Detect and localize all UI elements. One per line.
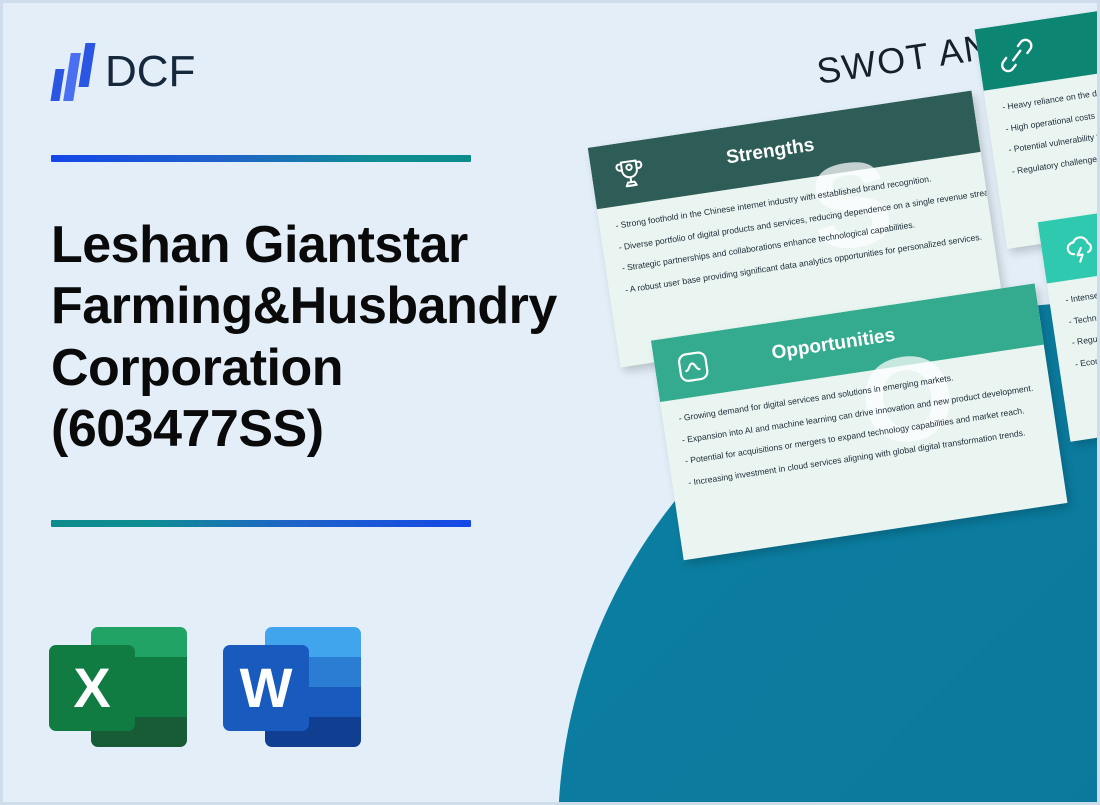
swot-card-title: Weaknesses	[977, 3, 1100, 71]
swot-card-weaknesses[interactable]: Weaknesses W - Heavy reliance on the dom…	[974, 3, 1100, 249]
word-letter: W	[223, 645, 309, 731]
download-formats: X W	[49, 619, 361, 747]
divider-bottom	[51, 520, 471, 527]
page-title: Leshan Giantstar Farming&Husbandry Corpo…	[51, 215, 521, 460]
title-panel: DCF Leshan Giantstar Farming&Husbandry C…	[3, 3, 543, 805]
brand-logo[interactable]: DCF	[51, 41, 195, 103]
word-file-icon[interactable]: W	[223, 619, 361, 747]
brand-name: DCF	[105, 50, 195, 94]
excel-letter: X	[49, 645, 135, 731]
dcf-bars-logo-icon	[51, 43, 95, 101]
slide-canvas: SWOT ANALYSIS	[0, 0, 1100, 805]
excel-file-icon[interactable]: X	[49, 619, 187, 747]
swot-diagram: SWOT ANALYSIS	[523, 3, 1100, 761]
divider-top	[51, 155, 471, 162]
